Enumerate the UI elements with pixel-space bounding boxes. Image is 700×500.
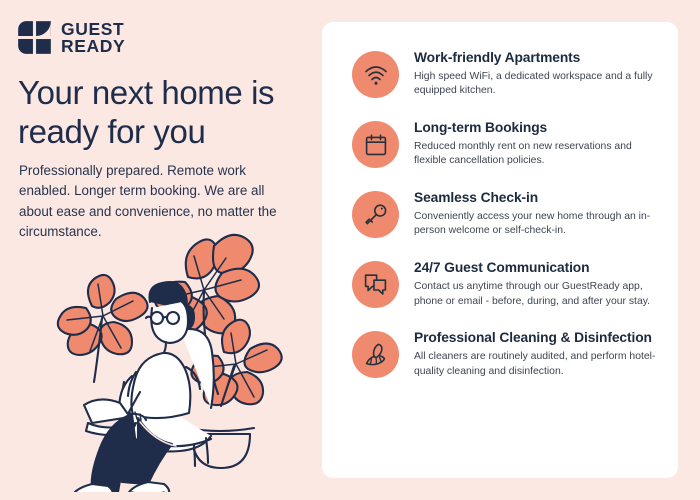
feature-text: 24/7 Guest Communication Contact us anyt…	[414, 259, 658, 309]
feature-description: Contact us anytime through our GuestRead…	[414, 280, 658, 310]
feature-title: Long-term Bookings	[414, 120, 658, 137]
feature-title: Seamless Check-in	[414, 190, 658, 207]
feature-item[interactable]: Long-term Bookings Reduced monthly rent …	[352, 119, 658, 169]
feature-description: All cleaners are routinely audited, and …	[414, 350, 658, 380]
feature-text: Long-term Bookings Reduced monthly rent …	[414, 119, 658, 169]
feature-title: Professional Cleaning & Disinfection	[414, 330, 658, 347]
guestready-quadrant-logo-icon	[17, 20, 52, 55]
feature-item[interactable]: Seamless Check-in Conveniently access yo…	[352, 189, 658, 239]
brand-logo[interactable]: GUEST READY	[17, 20, 125, 55]
feature-text: Work-friendly Apartments High speed WiFi…	[414, 49, 658, 99]
feature-text: Seamless Check-in Conveniently access yo…	[414, 189, 658, 239]
hero-illustration	[28, 222, 310, 492]
feature-item[interactable]: Professional Cleaning & Disinfection All…	[352, 329, 658, 379]
feature-title: Work-friendly Apartments	[414, 50, 658, 67]
feature-description: Conveniently access your new home throug…	[414, 210, 658, 240]
brand-name-line2: READY	[61, 38, 125, 55]
page-title: Your next home is ready for you	[18, 74, 308, 151]
calendar-icon	[352, 121, 399, 168]
feature-item[interactable]: 24/7 Guest Communication Contact us anyt…	[352, 259, 658, 309]
feature-description: Reduced monthly rent on new reservations…	[414, 140, 658, 170]
brand-wordmark: GUEST READY	[61, 21, 125, 54]
feature-item[interactable]: Work-friendly Apartments High speed WiFi…	[352, 49, 658, 99]
key-icon	[352, 191, 399, 238]
promo-page: GUEST READY Your next home is ready for …	[0, 0, 700, 500]
features-card: Work-friendly Apartments High speed WiFi…	[322, 22, 678, 478]
broom-icon	[352, 331, 399, 378]
feature-title: 24/7 Guest Communication	[414, 260, 658, 277]
features-list: Work-friendly Apartments High speed WiFi…	[322, 22, 678, 478]
feature-description: High speed WiFi, a dedicated workspace a…	[414, 70, 658, 100]
hero-column: GUEST READY Your next home is ready for …	[0, 0, 320, 500]
feature-text: Professional Cleaning & Disinfection All…	[414, 329, 658, 379]
wifi-icon	[352, 51, 399, 98]
brand-name-line1: GUEST	[61, 21, 125, 38]
chat-bubbles-icon	[352, 261, 399, 308]
